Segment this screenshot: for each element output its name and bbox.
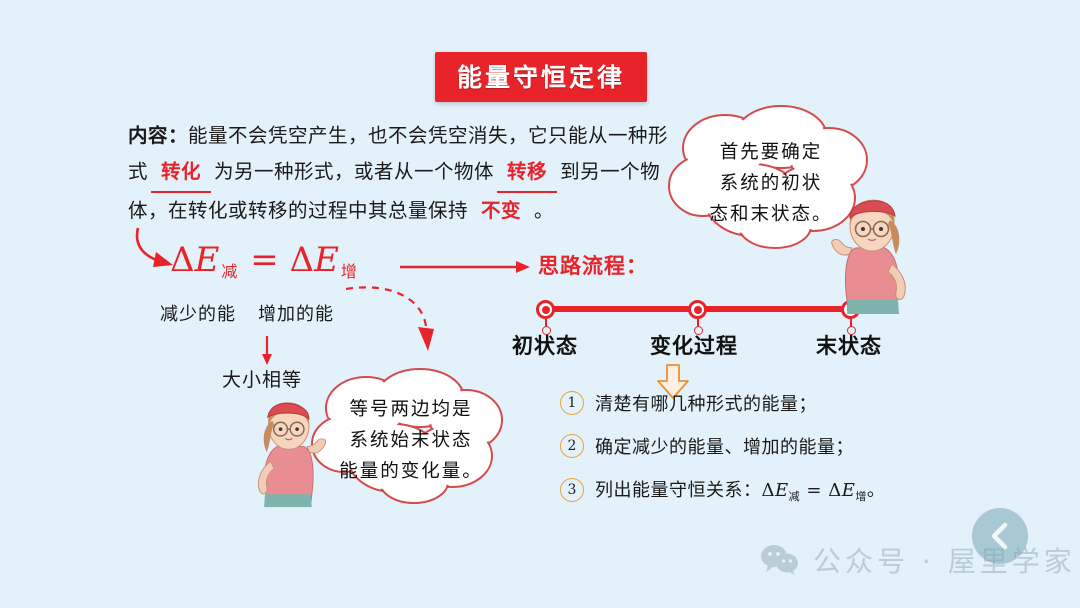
formula-sub-left: 减	[219, 262, 239, 281]
content-blank-3: 不变	[471, 193, 531, 230]
timeline-label-1: 初状态	[512, 330, 578, 360]
speech-bubble-2-text: 等号两边均是 系统始末状态 能量的变化量。	[332, 394, 490, 487]
timeline-node-1	[536, 300, 556, 320]
page-title-banner: 能量守恒定律	[435, 52, 647, 102]
slide-canvas: 能量守恒定律 内容：能量不会凭空产生，也不会凭空消失，它只能从一种形式转化为另一…	[0, 0, 1080, 608]
step-3-delta-left: Δ	[762, 480, 776, 501]
step-3-period: 。	[867, 480, 886, 501]
down-arrow-small-icon	[258, 336, 276, 366]
watermark: 公众号 · 屋里学家	[760, 540, 1076, 580]
formula-caption-left: 减少的能	[160, 300, 236, 326]
step-text: 清楚有哪几种形式的能量；	[595, 390, 817, 416]
steps-list: 1 清楚有哪几种形式的能量； 2 确定减少的能量、增加的能量； 3 列出能量守恒…	[560, 390, 885, 521]
step-number-badge: 3	[560, 478, 584, 502]
process-timeline	[536, 300, 861, 320]
list-item: 1 清楚有哪几种形式的能量；	[560, 390, 885, 416]
list-item: 3 列出能量守恒关系：ΔE减 = ΔE增。	[560, 476, 885, 504]
content-blank-1: 转化	[151, 154, 211, 193]
formula-delta-right: Δ	[290, 240, 315, 280]
formula-e-right: E	[314, 240, 339, 280]
content-part-2: 为另一种形式，或者从一个物体	[214, 160, 494, 183]
formula-e-left: E	[195, 240, 220, 280]
list-item: 2 确定减少的能量、增加的能量；	[560, 433, 885, 459]
step-number-badge: 2	[560, 434, 584, 458]
formula-delta-left: Δ	[170, 240, 195, 280]
step-3-equals: =	[806, 480, 822, 501]
cartoon-girl-character-left-icon	[243, 398, 331, 508]
step-3-text: 列出能量守恒关系：	[595, 480, 762, 501]
timeline-label-3: 末状态	[816, 330, 882, 360]
speech-bubble-2: 等号两边均是 系统始末状态 能量的变化量。	[308, 368, 513, 508]
timeline-node-ring-icon	[688, 300, 707, 319]
step-text: 确定减少的能量、增加的能量；	[595, 433, 854, 459]
step-number-badge: 1	[560, 391, 584, 415]
content-part-4: 。	[534, 199, 554, 222]
step-3-sub-right: 增	[855, 490, 867, 503]
timeline-node-ring-icon	[536, 300, 555, 319]
formula-caption-right: 增加的能	[258, 300, 334, 326]
content-label: 内容：	[128, 124, 188, 147]
flow-section-title: 思路流程：	[538, 250, 648, 280]
step-text-with-formula: 列出能量守恒关系：ΔE减 = ΔE增。	[595, 476, 885, 504]
wechat-icon	[760, 544, 800, 576]
formula-captions: 减少的能增加的能	[160, 300, 334, 326]
content-blank-2: 转移	[497, 154, 557, 193]
content-paragraph: 内容：能量不会凭空产生，也不会凭空消失，它只能从一种形式转化为另一种形式，或者从…	[128, 118, 688, 230]
step-3-e-right: E	[842, 480, 856, 501]
back-button[interactable]	[972, 508, 1028, 564]
step-3-sub-left: 减	[789, 490, 801, 503]
page-title: 能量守恒定律	[457, 63, 625, 92]
watermark-text: 公众号 · 屋里学家	[813, 540, 1076, 580]
timeline-label-2: 变化过程	[650, 330, 738, 360]
cartoon-girl-character-right-icon	[826, 196, 922, 314]
step-3-e-left: E	[775, 480, 789, 501]
equal-magnitude-note: 大小相等	[222, 365, 302, 392]
chevron-left-icon	[987, 521, 1013, 551]
energy-conservation-formula: ΔE减 = ΔE增	[170, 240, 359, 282]
step-3-delta-right: Δ	[828, 480, 842, 501]
timeline-node-2	[688, 300, 708, 320]
formula-equals: =	[250, 240, 279, 280]
